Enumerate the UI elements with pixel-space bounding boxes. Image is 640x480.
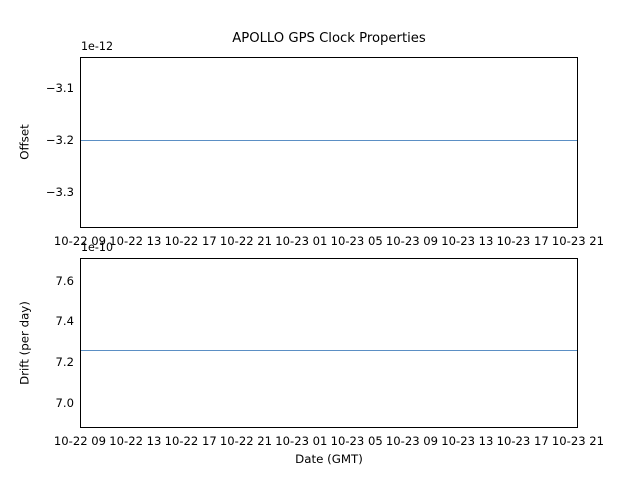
x-tick-label: 10-22 09 <box>54 434 106 448</box>
x-tick-label: 10-22 09 <box>54 234 106 248</box>
x-tick-label: 10-23 13 <box>441 234 493 248</box>
x-tick-label: 10-23 09 <box>386 434 438 448</box>
x-tick-label: 10-22 21 <box>220 234 272 248</box>
x-tick-label: 10-22 13 <box>109 234 161 248</box>
drift-data-line <box>81 350 577 351</box>
offset-axis-exponent-label: 1e-12 <box>81 40 113 53</box>
x-tick-label: 10-22 13 <box>109 434 161 448</box>
offset-data-line <box>81 140 577 141</box>
y-tick-label: −3.1 <box>46 81 80 95</box>
x-tick-label: 10-23 13 <box>441 434 493 448</box>
x-tick-label: 10-23 21 <box>552 234 604 248</box>
x-axis-label: Date (GMT) <box>80 452 578 466</box>
y-tick-mark <box>80 140 81 141</box>
x-tick-label: 10-23 17 <box>497 434 549 448</box>
y-tick-label: −3.3 <box>46 185 80 199</box>
x-tick-label: 10-22 17 <box>165 434 217 448</box>
y-tick-label: −3.2 <box>46 133 80 147</box>
y-tick-mark <box>80 403 81 404</box>
x-tick-label: 10-23 01 <box>275 234 327 248</box>
x-tick-label: 10-23 09 <box>386 234 438 248</box>
y-tick-mark <box>80 281 81 282</box>
page-title: APOLLO GPS Clock Properties <box>80 31 578 46</box>
x-tick-label: 10-22 21 <box>220 434 272 448</box>
drift-plot-area <box>80 258 578 428</box>
y-tick-mark <box>80 322 81 323</box>
y-tick-label: 7.6 <box>56 274 80 288</box>
x-tick-label: 10-23 05 <box>331 234 383 248</box>
offset-plot-area <box>80 57 578 228</box>
x-tick-label: 10-22 17 <box>165 234 217 248</box>
y-tick-mark <box>80 362 81 363</box>
y-tick-mark <box>80 89 81 90</box>
y-tick-label: 7.0 <box>56 396 80 410</box>
y-tick-mark <box>80 191 81 192</box>
y-tick-label: 7.4 <box>56 314 80 328</box>
y-tick-label: 7.2 <box>56 355 80 369</box>
x-tick-label: 10-23 17 <box>497 234 549 248</box>
x-tick-label: 10-23 05 <box>331 434 383 448</box>
x-tick-label: 10-23 01 <box>275 434 327 448</box>
y-tick-label-column: −3.1−3.2−3.3 <box>0 57 80 228</box>
y-tick-label-column: 7.67.47.27.0 <box>0 258 80 428</box>
x-tick-label: 10-23 21 <box>552 434 604 448</box>
matplotlib-figure: APOLLO GPS Clock Properties 1e-12 Offset… <box>0 0 640 480</box>
